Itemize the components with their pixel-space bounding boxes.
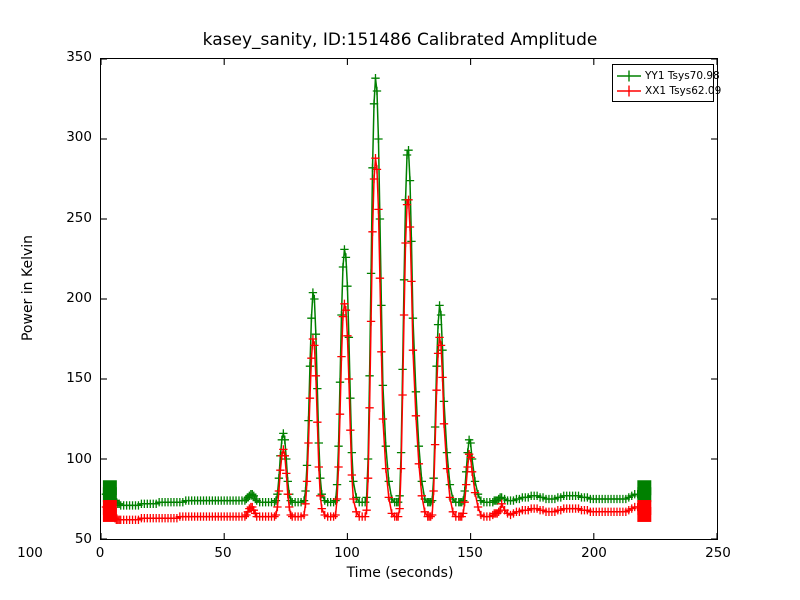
series-xx1 <box>102 154 652 524</box>
legend: YY1 Tsys70.98 XX1 Tsys62.09 <box>612 64 714 102</box>
y-tick-label-50: 50 <box>38 531 92 547</box>
chart-title: kasey_sanity, ID:151486 Calibrated Ampli… <box>0 30 800 50</box>
legend-label-yy1: YY1 Tsys70.98 <box>642 70 720 82</box>
y-tick-label-300: 300 <box>38 129 92 145</box>
x-tick-label-0: 0 <box>70 545 130 561</box>
y-tick-label-150: 150 <box>38 370 92 386</box>
chart-root: kasey_sanity, ID:151486 Calibrated Ampli… <box>0 0 800 600</box>
legend-entry-xx1: XX1 Tsys62.09 <box>616 83 709 98</box>
x-tick-label-250: 250 <box>688 545 748 561</box>
x-tick-label-150: 150 <box>440 545 500 561</box>
x-tick-label-100: 100 <box>0 545 60 561</box>
y-tick-label-250: 250 <box>38 210 92 226</box>
y-tick-label-350: 350 <box>38 49 92 65</box>
legend-line-marker-yy1 <box>616 69 642 83</box>
legend-label-xx1: XX1 Tsys62.09 <box>642 85 721 97</box>
x-tick-label-200: 200 <box>564 545 624 561</box>
y-tick-label-200: 200 <box>38 290 92 306</box>
y-axis-title: Power in Kelvin <box>20 198 36 378</box>
x-tick-label-100b: 100 <box>317 545 377 561</box>
y-tick-label-100: 100 <box>38 451 92 467</box>
legend-line-marker-xx1 <box>616 84 642 98</box>
x-tick-label-50: 50 <box>193 545 253 561</box>
plot-area <box>100 58 718 540</box>
plot-svg <box>101 59 717 539</box>
legend-entry-yy1: YY1 Tsys70.98 <box>616 68 709 83</box>
axis-ticks <box>101 59 717 539</box>
series-yy1 <box>102 74 652 510</box>
data-series-layer <box>102 74 652 524</box>
x-axis-title: Time (seconds) <box>0 565 800 581</box>
